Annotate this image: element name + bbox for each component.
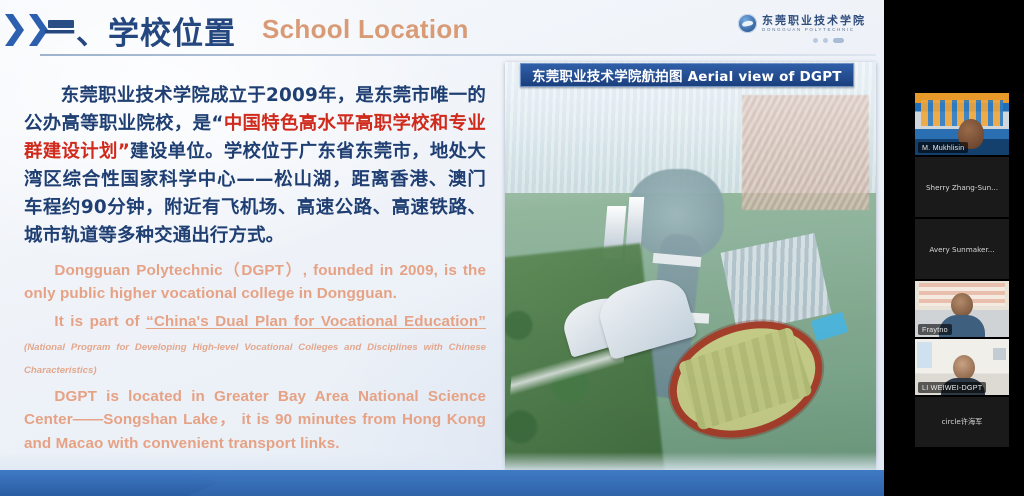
participant-tile[interactable]: circle许海军	[915, 397, 1009, 447]
footer-light-band	[0, 452, 884, 470]
participant-tile[interactable]: LI WEIWEI-DGPT	[915, 339, 1009, 395]
paragraph-english-2-note: (National Program for Developing High-le…	[24, 342, 486, 377]
photo-overlay-shade	[505, 62, 876, 472]
paragraph-english-3: DGPT is located in Greater Bay Area Nati…	[24, 385, 486, 456]
participant-name-label: Fraytno	[918, 324, 952, 335]
participant-name-label: M. Mukhlisin	[918, 142, 968, 153]
page-title-chinese: 一、学校位置	[44, 8, 236, 53]
footer-arrow-accent	[0, 470, 218, 496]
logo-name-chinese: 东莞职业技术学院	[762, 15, 866, 26]
paragraph-english-2: It is part of “China's Dual Plan for Voc…	[24, 310, 486, 381]
chevron-double-right-icon	[4, 13, 49, 47]
slide-header: 一、学校位置 School Location 东莞职业技术学院 DONGGUAN…	[0, 0, 884, 62]
logo-emblem-icon	[738, 14, 757, 33]
school-logo: 东莞职业技术学院 DONGGUAN POLYTECHNIC	[738, 14, 866, 33]
participant-head	[951, 293, 973, 317]
screen-root: 一、学校位置 School Location 东莞职业技术学院 DONGGUAN…	[0, 0, 1024, 496]
paragraph-chinese: 东莞职业技术学院成立于2009年，是东莞市唯一的公办高等职业院校，是“中国特色高…	[24, 82, 486, 250]
page-title-english: School Location	[262, 14, 469, 45]
participant-name-label: Sherry Zhang-Sun...	[915, 157, 1009, 217]
slide-text-column: 东莞职业技术学院成立于2009年，是东莞市唯一的公办高等职业院校，是“中国特色高…	[24, 82, 486, 455]
dual-plan-link[interactable]: “China's Dual Plan for Vocational Educat…	[146, 313, 486, 330]
participant-name-label: circle许海军	[915, 397, 1009, 447]
video-participant-rail[interactable]: M. Mukhlisin Sherry Zhang-Sun... Avery S…	[884, 0, 1024, 496]
participant-background	[917, 342, 932, 368]
quote-close: ”	[118, 141, 130, 162]
participant-tile[interactable]: M. Mukhlisin	[915, 93, 1009, 155]
aerial-campus-photo	[505, 62, 876, 472]
participant-name-label: LI WEIWEI-DGPT	[918, 382, 986, 393]
participant-background-right	[993, 348, 1006, 360]
participant-tile[interactable]: Fraytno	[915, 281, 1009, 337]
header-divider	[40, 54, 876, 56]
participant-name-label: Avery Sunmaker...	[915, 219, 1009, 279]
header-dot-decoration	[813, 38, 844, 43]
photo-caption-banner: 东莞职业技术学院航拍图 Aerial view of DGPT	[520, 63, 854, 87]
presentation-slide: 一、学校位置 School Location 东莞职业技术学院 DONGGUAN…	[0, 0, 884, 496]
paragraph-english-2-prefix: It is part of	[54, 313, 146, 330]
paragraph-english-1: Dongguan Polytechnic（DGPT）, founded in 2…	[24, 259, 486, 306]
logo-name-english: DONGGUAN POLYTECHNIC	[762, 28, 866, 33]
quote-open: “	[211, 113, 223, 134]
participant-tile[interactable]: Sherry Zhang-Sun...	[915, 157, 1009, 217]
participant-tile[interactable]: Avery Sunmaker...	[915, 219, 1009, 279]
participant-head	[953, 355, 975, 380]
